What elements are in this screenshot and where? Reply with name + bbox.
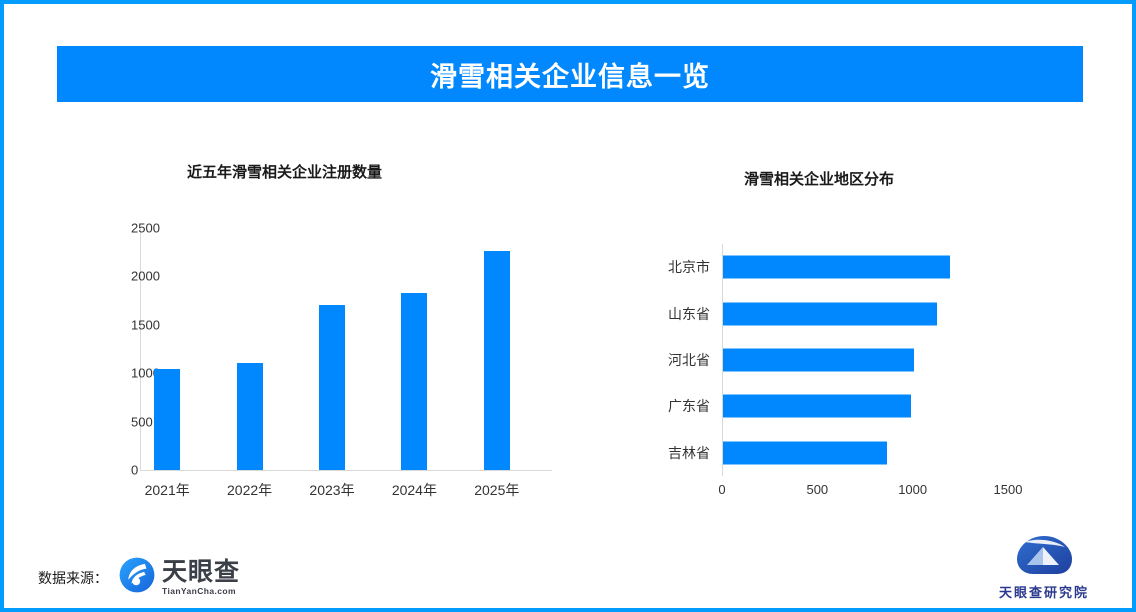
infographic-page: 滑雪相关企业信息一览 近五年滑雪相关企业注册数量 050010001500200… bbox=[0, 0, 1136, 612]
category-label: 吉林省 bbox=[644, 443, 710, 463]
research-institute-logo: 天眼查研究院 bbox=[984, 534, 1104, 601]
y-tick-label: 1500 bbox=[131, 317, 140, 332]
left-chart-x-axis-line bbox=[140, 470, 552, 471]
research-institute-name: 天眼查研究院 bbox=[999, 582, 1089, 601]
category-label: 河北省 bbox=[644, 350, 710, 370]
tianyancha-logo: 天眼查 TianYanCha.com bbox=[118, 556, 240, 599]
data-source: 数据来源： 天眼查 TianYanC bbox=[38, 556, 240, 599]
y-tick-label: 500 bbox=[131, 414, 140, 429]
registrations-bar-chart: 05001000150020002500 2021年2022年2023年2024… bbox=[90, 216, 560, 496]
page-title: 滑雪相关企业信息一览 bbox=[430, 55, 710, 94]
tianyancha-wordmark: 天眼查 TianYanCha.com bbox=[162, 560, 240, 596]
tianyancha-name-cn: 天眼查 bbox=[162, 560, 240, 585]
bar-广东省 bbox=[723, 395, 911, 418]
page-title-banner: 滑雪相关企业信息一览 bbox=[57, 46, 1083, 102]
category-label: 广东省 bbox=[644, 396, 710, 416]
x-tick-label: 2022年 bbox=[227, 480, 272, 500]
x-tick-label: 1000 bbox=[898, 482, 927, 497]
tianyancha-eye-icon bbox=[118, 556, 156, 599]
category-label: 山东省 bbox=[644, 304, 710, 324]
left-chart-title: 近五年滑雪相关企业注册数量 bbox=[187, 161, 382, 182]
x-tick-label: 1500 bbox=[994, 482, 1023, 497]
data-source-label: 数据来源： bbox=[38, 568, 108, 588]
y-tick-label: 1000 bbox=[131, 366, 140, 381]
left-chart-y-axis-line bbox=[140, 228, 141, 470]
bar-吉林省 bbox=[723, 441, 887, 464]
x-tick-label: 2023年 bbox=[309, 480, 354, 500]
bar-2023年 bbox=[319, 305, 345, 470]
bar-2021年 bbox=[154, 369, 180, 470]
tianyancha-name-en: TianYanCha.com bbox=[162, 587, 240, 596]
bar-2025年 bbox=[484, 251, 510, 470]
bar-北京市 bbox=[723, 256, 950, 279]
category-label: 北京市 bbox=[644, 257, 710, 277]
y-tick-label: 2500 bbox=[131, 221, 140, 236]
right-chart-title: 滑雪相关企业地区分布 bbox=[744, 168, 894, 189]
x-tick-label: 2021年 bbox=[145, 480, 190, 500]
bar-河北省 bbox=[723, 349, 914, 372]
tianyancha-research-institute-icon bbox=[1013, 534, 1075, 581]
x-tick-label: 2025年 bbox=[474, 480, 519, 500]
x-tick-label: 500 bbox=[806, 482, 828, 497]
x-tick-label: 2024年 bbox=[392, 480, 437, 500]
bar-2022年 bbox=[237, 363, 263, 470]
y-tick-label: 2000 bbox=[131, 269, 140, 284]
x-tick-label: 0 bbox=[718, 482, 725, 497]
bar-山东省 bbox=[723, 302, 937, 325]
region-distribution-bar-chart: 北京市山东省河北省广东省吉林省 050010001500 bbox=[644, 236, 1044, 506]
bar-2024年 bbox=[401, 293, 427, 470]
y-tick-label: 0 bbox=[131, 463, 140, 478]
